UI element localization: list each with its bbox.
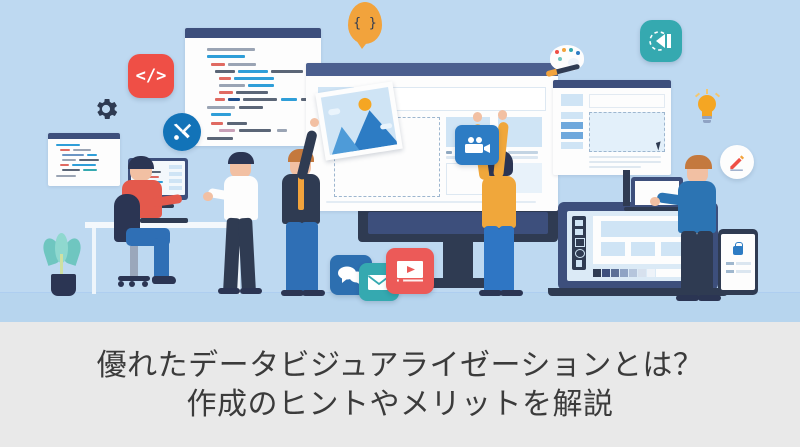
tools-icon bbox=[163, 113, 201, 151]
field-box bbox=[736, 270, 751, 273]
wall-code-window bbox=[185, 28, 321, 146]
braces-glyph: { } bbox=[353, 16, 376, 31]
braces-bubble-tail bbox=[356, 40, 369, 49]
body-line bbox=[589, 161, 661, 163]
title-line-2: 作成のヒントやメリットを解説 bbox=[187, 385, 614, 424]
gear-glyph bbox=[92, 95, 120, 123]
seated-developer bbox=[106, 150, 178, 300]
desk-leg-left bbox=[92, 228, 96, 294]
video-player-glyph bbox=[394, 258, 426, 284]
braces-bubble-icon: { } bbox=[348, 2, 382, 44]
window-titlebar bbox=[306, 63, 558, 76]
video-camera-glyph bbox=[463, 136, 491, 154]
nav-item bbox=[561, 122, 583, 129]
body-line bbox=[589, 156, 661, 158]
pencil-edit-icon bbox=[720, 145, 754, 179]
body-line bbox=[589, 166, 641, 168]
man-at-laptop bbox=[667, 150, 725, 300]
field-label bbox=[726, 270, 734, 273]
window-titlebar bbox=[553, 80, 671, 88]
video-camera-icon bbox=[455, 125, 499, 165]
code-tag-glyph: </> bbox=[136, 66, 167, 86]
nav-item bbox=[561, 112, 583, 119]
share-icon bbox=[640, 20, 682, 62]
smartphone bbox=[718, 229, 758, 295]
man-with-tie bbox=[272, 140, 332, 300]
browser-window-right bbox=[553, 80, 671, 175]
monitor-stand-center bbox=[443, 242, 473, 280]
phone-screen bbox=[721, 234, 755, 290]
code-tag-icon: </> bbox=[128, 54, 174, 98]
gear-icon bbox=[92, 95, 120, 123]
plant-decoration bbox=[42, 238, 84, 296]
toolbar-panel bbox=[572, 216, 586, 270]
laptop-stand-pole bbox=[623, 170, 630, 206]
video-player-icon bbox=[386, 248, 434, 294]
header-thumb bbox=[561, 94, 583, 106]
field-box bbox=[736, 262, 751, 265]
palette-icon bbox=[546, 45, 588, 79]
tools-glyph bbox=[171, 121, 193, 143]
card-1-line bbox=[446, 151, 452, 154]
lightbulb-icon bbox=[694, 93, 720, 125]
window-titlebar bbox=[185, 28, 321, 38]
pencil-glyph bbox=[727, 152, 747, 172]
header-bar bbox=[589, 94, 665, 108]
share-glyph bbox=[648, 30, 674, 52]
hero-illustration: </> { } bbox=[0, 0, 800, 322]
banner-image: </> { } bbox=[0, 0, 800, 447]
code-listing bbox=[185, 38, 321, 146]
standing-manager bbox=[208, 148, 264, 298]
nav-item bbox=[561, 132, 583, 139]
canvas-selection bbox=[589, 112, 665, 152]
title-strip: 優れたデータビジュアライゼーションとは？ 作成のヒントやメリットを解説 bbox=[0, 322, 800, 447]
title-line-1: 優れたデータビジュアライゼーションとは？ bbox=[97, 346, 704, 385]
field-label bbox=[726, 262, 734, 265]
nav-item bbox=[561, 142, 583, 149]
